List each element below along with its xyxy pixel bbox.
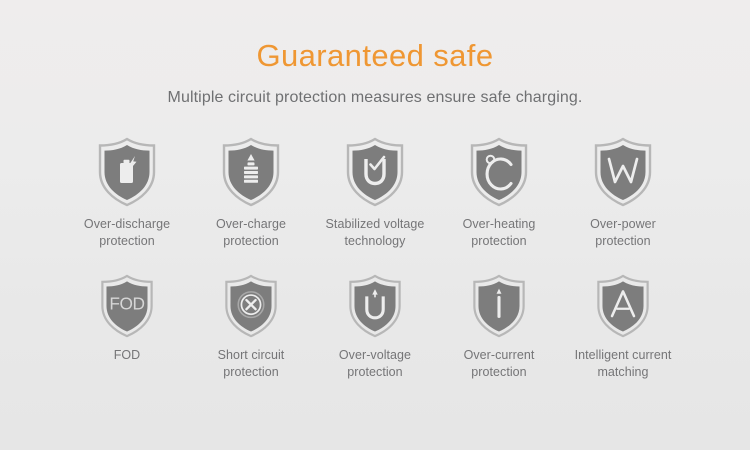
- shield-battery-discharge-icon: [93, 136, 161, 208]
- feature-label: Over-discharge protection: [84, 216, 170, 250]
- feature-item-over-charge: Over-charge protection: [195, 136, 307, 250]
- feature-item-short-circuit: Short circuit protection: [195, 272, 307, 381]
- feature-row-1: Over-discharge protection Over-: [0, 136, 750, 250]
- shield-x-circle-icon: [220, 272, 282, 340]
- feature-label: Stabilized voltage technology: [326, 216, 425, 250]
- shield-u-check-icon: [341, 136, 409, 208]
- feature-label: Intelligent current matching: [575, 347, 672, 381]
- feature-label: Short circuit protection: [218, 347, 285, 381]
- header: Guaranteed safe Multiple circuit protect…: [0, 0, 750, 108]
- shield-u-arrow-icon: [344, 272, 406, 340]
- feature-label: Over-power protection: [590, 216, 656, 250]
- svg-text:FOD: FOD: [109, 294, 144, 314]
- feature-item-over-voltage: Over-voltage protection: [319, 272, 431, 381]
- shield-i-arrow-icon: [468, 272, 530, 340]
- feature-item-over-heating: Over-heating protection: [443, 136, 555, 250]
- shield-ampere-icon: [592, 272, 654, 340]
- shield-battery-charge-icon: [217, 136, 285, 208]
- feature-grid: Over-discharge protection Over-: [0, 136, 750, 381]
- feature-item-intelligent-current: Intelligent current matching: [567, 272, 679, 381]
- page-subtitle: Multiple circuit protection measures ens…: [0, 88, 750, 108]
- feature-item-over-current: Over-current protection: [443, 272, 555, 381]
- shield-celsius-icon: [465, 136, 533, 208]
- feature-label: Over-voltage protection: [339, 347, 411, 381]
- feature-label: Over-current protection: [464, 347, 535, 381]
- feature-row-2: FOD FOD Short circuit protection: [0, 272, 750, 381]
- page-title: Guaranteed safe: [0, 38, 750, 74]
- feature-label: Over-charge protection: [216, 216, 286, 250]
- feature-label: FOD: [114, 347, 141, 364]
- feature-item-stabilized-voltage: Stabilized voltage technology: [319, 136, 431, 250]
- feature-label: Over-heating protection: [463, 216, 536, 250]
- shield-watt-icon: [589, 136, 657, 208]
- shield-fod-icon: FOD: [96, 272, 158, 340]
- feature-item-over-power: Over-power protection: [567, 136, 679, 250]
- feature-item-fod: FOD FOD: [71, 272, 183, 364]
- feature-item-over-discharge: Over-discharge protection: [71, 136, 183, 250]
- guaranteed-safe-panel: Guaranteed safe Multiple circuit protect…: [0, 0, 750, 450]
